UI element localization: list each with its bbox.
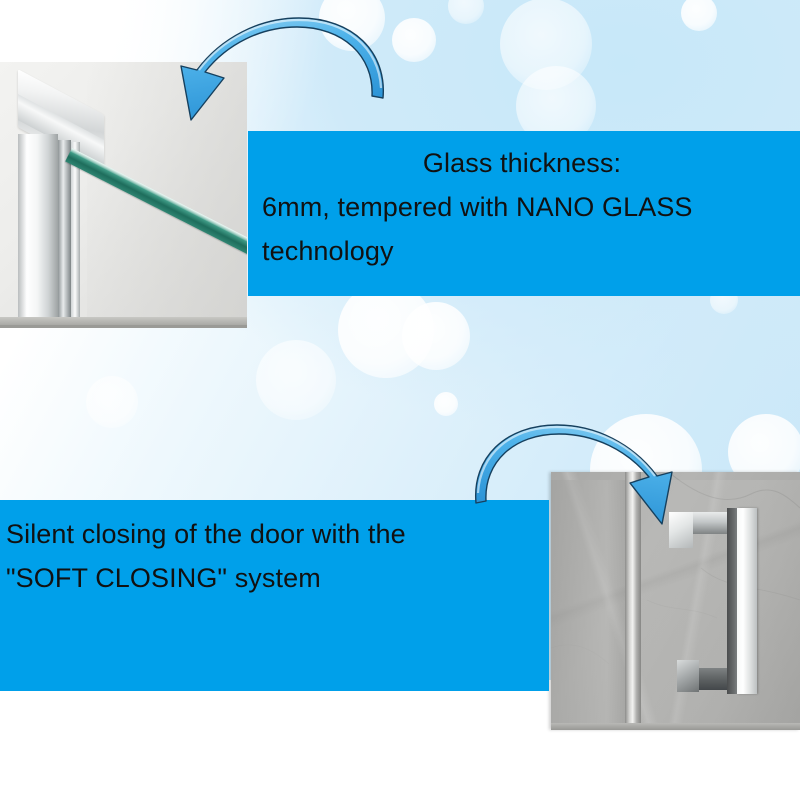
photo-floor-line: [0, 317, 247, 325]
callout-soft-closing: Silent closing of the door with the "SOF…: [0, 500, 549, 691]
background-bubble: [402, 302, 470, 370]
callout-line: Silent closing of the door with the: [6, 512, 539, 556]
callout-line: 6mm, tempered with NANO GLASS: [262, 185, 782, 229]
callout-line: technology: [262, 229, 782, 273]
chrome-post-edge: [58, 140, 71, 326]
callout-line: "SOFT CLOSING" system: [6, 556, 539, 600]
infographic-canvas: Glass thickness: 6mm, tempered with NANO…: [0, 0, 800, 800]
callout-line: Glass thickness:: [262, 141, 782, 185]
background-bubble: [256, 340, 336, 420]
background-bubble: [86, 376, 138, 428]
chrome-post: [18, 134, 58, 326]
callout-glass-thickness: Glass thickness: 6mm, tempered with NANO…: [248, 131, 800, 296]
handle-bar: [737, 508, 757, 694]
handle-bottom-mount: [677, 660, 699, 692]
background-bubble: [434, 392, 458, 416]
photo-floor-line-2: [551, 723, 800, 730]
background-bubble: [392, 18, 436, 62]
arrow-to-door-handle-icon: [468, 415, 678, 535]
chrome-post-edge-inner: [71, 142, 80, 326]
arrow-to-glass-edge-icon: [175, 8, 395, 133]
